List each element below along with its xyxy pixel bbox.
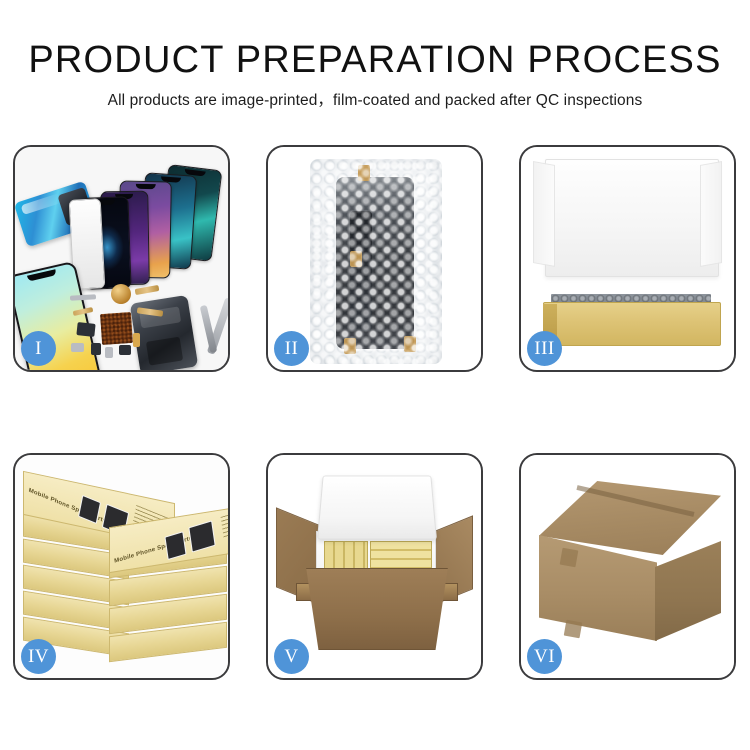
- step-badge-6: VI: [527, 639, 562, 674]
- shipping-carton-side-icon: [655, 541, 721, 641]
- carton-tape-top-icon: [560, 548, 579, 568]
- foam-cooler-lid-icon: [317, 476, 437, 540]
- box-stack-illustration: Mobile Phone Spare Parts Mobile Phone Sp…: [21, 473, 226, 669]
- step-badge-2: II: [274, 331, 309, 366]
- foam-flap-left-icon: [533, 161, 555, 267]
- bubble-wrap-bag-icon: [310, 159, 442, 364]
- flex-cable-icon: [135, 285, 160, 295]
- step-panel-6[interactable]: VI: [519, 453, 736, 680]
- page-header: PRODUCT PREPARATION PROCESS All products…: [0, 0, 750, 112]
- component-camera-icon: [119, 345, 131, 355]
- step-badge-5: V: [274, 639, 309, 674]
- component-small-icon: [71, 343, 84, 352]
- step-badge-4: IV: [21, 639, 56, 674]
- box-label-phone-image: [188, 520, 215, 552]
- step-panel-4[interactable]: Mobile Phone Spare Parts Mobile Phone Sp…: [13, 453, 230, 680]
- step-panel-3[interactable]: III: [519, 145, 736, 372]
- box-label-phone-image: [164, 531, 186, 560]
- component-strip-icon: [70, 294, 96, 300]
- box-label-spec-lines: [221, 507, 228, 538]
- speaker-component-icon: [111, 284, 131, 304]
- bubble-texture-overlay: [310, 159, 442, 364]
- carton-front-icon: [300, 568, 454, 650]
- component-chip-icon: [91, 343, 101, 355]
- logic-board-icon: [100, 312, 133, 345]
- step-panel-1[interactable]: I: [13, 145, 230, 372]
- phone-back-housing-icon: [130, 295, 199, 370]
- foam-lining-icon: [545, 159, 719, 277]
- component-connector-icon: [133, 333, 140, 347]
- page-subtitle: All products are image-printed，film-coat…: [0, 90, 750, 112]
- step-panel-5[interactable]: V: [266, 453, 483, 680]
- kraft-inner-box-icon: [543, 302, 721, 346]
- process-steps-grid: I II III: [13, 145, 737, 680]
- carton-tape-bottom-icon: [564, 620, 583, 639]
- page-title: PRODUCT PREPARATION PROCESS: [0, 38, 750, 82]
- step-panel-2[interactable]: II: [266, 145, 483, 372]
- foam-flap-right-icon: [700, 161, 722, 267]
- step-badge-3: III: [527, 331, 562, 366]
- step-badge-1: I: [21, 331, 56, 366]
- component-block-icon: [76, 322, 95, 337]
- component-sim-tray-icon: [105, 347, 113, 358]
